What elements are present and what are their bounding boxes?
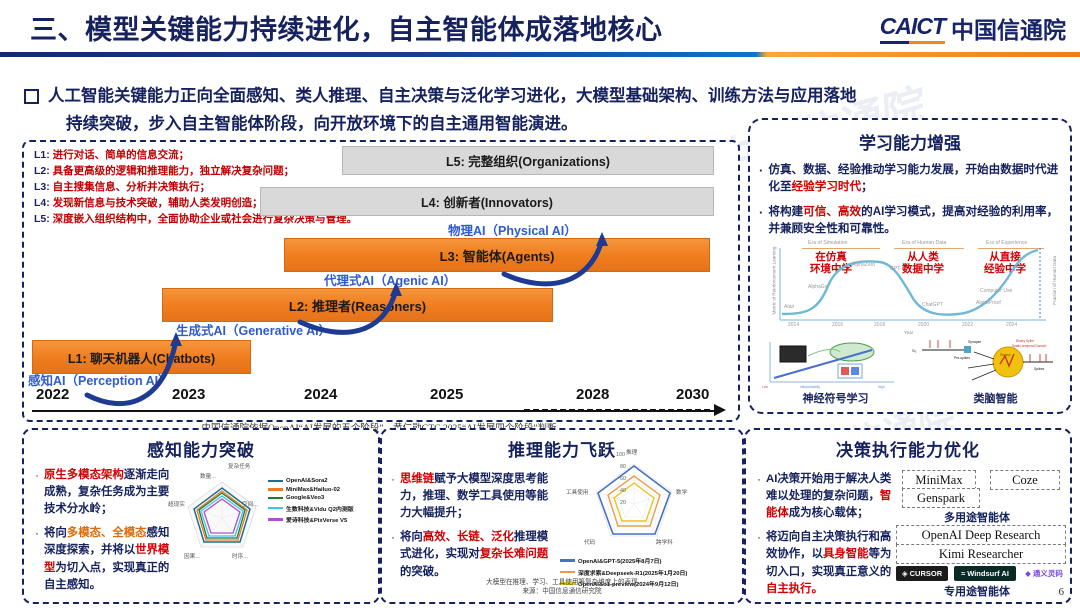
neuro-symbolic-figure: Low Interpretability High [760,338,900,390]
y-axis-label-left: Metric of Reinforcement Learning [771,247,776,315]
chip-windsurf[interactable]: ≈Windsurf AI [954,566,1016,581]
legend-item: 深度求索&Deepseek-R1(2025年1月20日) [560,568,687,577]
bullet-item: · 将向高效、长链、泛化推理模式进化，实现对复杂长难问题的突破。 [391,529,554,580]
bullet-dot-icon: · [759,162,763,196]
svg-text:Synapse: Synapse [968,340,981,344]
x-tick: 2016 [832,322,843,328]
svg-text:Soma: Soma [1000,352,1011,357]
radar-axis-label: 数量... [200,472,216,480]
radar-axis-label: 代码 [584,538,595,546]
bullet-dot-icon: · [35,525,39,593]
stage-bar-l2: L2: 推理者(Reasoners) [162,288,553,322]
caption-neuro-symbolic: 神经符号学习 [803,390,869,406]
x-tick: 2014 [788,322,799,328]
decision-bullets: · AI决策开始用于解决人类难以处理的复杂问题，智能体成为核心载体； · 将迈向… [750,464,902,598]
svg-text:Low: Low [762,385,769,389]
point-label: ChatGPT [922,302,943,308]
year-tick: 2022 [36,386,69,403]
learning-bullet: · 将构建可信、高效的AI学习模式，提高对经验的利用率，并兼顾安全性和可靠性。 [759,204,1059,238]
learning-figure-captions: 神经符号学习 类脑智能 [750,390,1070,406]
tool-kimi-researcher[interactable]: Kimi Researcher [896,544,1066,564]
radar-axis-label: 工具使用 [566,488,588,496]
legend-item: 生数科技&Vidu Q2内测版 [268,504,354,513]
special-agent-caption: 专用途智能体 [892,583,1062,599]
bullet-dot-icon: · [757,529,761,597]
radar-tick: 80 [620,464,626,470]
slide-header: 三、模型关键能力持续进化，自主智能体成落地核心 CAICT 中国信通院 [0,0,1080,56]
header-rule [0,52,1080,57]
decision-card: 决策执行能力优化 · AI决策开始用于解决人类难以处理的复杂问题，智能体成为核心… [744,428,1072,604]
timeline-axis-arrow-icon [714,404,726,416]
lead-line-2: 持续突破，步入自主智能体阶段，向开放环境下的自主通用智能演进。 [48,110,857,138]
chip-cursor[interactable]: ◈CURSOR [896,566,948,581]
radar-axis-label: 跨学科 [656,538,673,546]
stage-bar-l1: L1: 聊天机器人(Chatbots) [32,340,251,374]
learning-capability-card: 学习能力增强 · 仿真、数据、经验推动学习能力发展，开始由数据时代进化至经验学习… [748,118,1072,414]
radar-axis-label: 时序... [232,552,248,560]
x-tick: 2018 [874,322,885,328]
chip-tongyi-lingma[interactable]: ◆通义灵码 [1020,566,1068,581]
bullet-dot-icon: · [35,467,39,518]
point-label: Computer Use [980,288,1012,294]
point-label: AlphaZero [852,262,875,268]
page-title: 三、模型关键能力持续进化，自主智能体成落地核心 [30,8,663,47]
square-bullet-icon [24,89,39,104]
page-number: 6 [1059,586,1065,598]
legend-swatch [268,497,283,499]
caption-brain-like: 类脑智能 [974,390,1018,406]
tool-coze[interactable]: Coze [990,470,1060,490]
logo-name: 中国信通院 [951,11,1066,45]
legend-item: Google&Veo3 [268,495,354,501]
tool-minimax[interactable]: MiniMax [902,470,976,490]
perception-bullets: · 原生多模态架构逐渐走向成熟，复杂任务成为主要技术分水岭； · 将向多模态、全… [28,460,180,594]
level-legend-item: L1: 进行对话、简单的信息交流； [34,148,357,164]
svg-text:Spikes: Spikes [1034,367,1044,371]
legend-item: OpenAI&Sora2 [268,478,354,484]
spiking-neuron-figure: S₀ Pre-spikes Synapse Soma Spikes Binary… [908,332,1060,390]
tool-genspark[interactable]: Genspark [902,488,980,508]
year-tick: 2024 [304,386,337,403]
phase-label-generative: 生成式AI（Generative AI） [176,320,331,339]
radar-chart-perception: 复杂任务 空间... 时序... 因果... 超现实 数量... [174,456,270,568]
year-tick: 2023 [172,386,205,403]
svg-text:High: High [878,385,885,389]
radar-axis-label: 推理 [626,448,637,456]
legend-item: MiniMax&Hailuo-02 [268,487,354,493]
timeline-axis-dashed [524,409,710,412]
legend-swatch [560,571,575,573]
legend-swatch [268,480,283,482]
bullet-item: · 将迈向自主决策执行和高效协作，以具身智能等为切入口，实现真正意义的自主执行。 [757,529,896,597]
radar-legend-perception: OpenAI&Sora2 MiniMax&Hailuo-02 Google&Ve… [268,478,354,527]
y-axis-label-right: Fraction of Human Data [1052,256,1057,305]
bullet-item: · 原生多模态架构逐渐走向成熟，复杂任务成为主要技术分水岭； [35,467,174,518]
learning-bullet: · 仿真、数据、经验推动学习能力发展，开始由数据时代进化至经验学习时代； [759,162,1059,196]
bullet-dot-icon: · [391,471,395,522]
bullet-dot-icon: · [757,471,761,522]
stage-bar-l5: L5: 完整组织(Organizations) [342,146,714,175]
radar-tick: 20 [620,500,626,506]
legend-swatch [268,488,283,490]
x-tick: 2024 [1006,322,1017,328]
year-tick: 2025 [430,386,463,403]
x-tick: 2020 [918,322,929,328]
svg-text:Spatio-temporal Domain: Spatio-temporal Domain [1012,344,1047,348]
point-label: GPT-3 [890,266,904,272]
bullet-item: · 将向多模态、全模态感知深度探索，并将以世界模型为切入点，实现真正的自主感知。 [35,525,174,593]
slide-root: CAICT 中国信通院 CAICT 中国信通院 CAICT 中国信通院 CAIC… [0,0,1080,608]
legend-item: 爱诗科技&PixVerse V5 [268,515,354,524]
radar-tick: 60 [620,476,626,482]
year-tick: 2030 [676,386,709,403]
bullet-dot-icon: · [759,204,763,238]
radar-tick: 100 [616,452,625,458]
phase-label-physical: 物理AI（Physical AI） [448,220,577,239]
legend-swatch [268,507,283,509]
x-tick: 2022 [962,322,973,328]
radar-axis-label: 因果... [184,552,200,560]
svg-text:Binary Spike: Binary Spike [1016,339,1034,343]
svg-text:S₀: S₀ [912,348,917,353]
svg-text:Interpretability: Interpretability [800,385,820,389]
point-label: AlphaProof [976,300,1001,306]
legend-swatch [560,559,575,561]
phase-label-agentic: 代理式AI（Agenic AI） [324,270,456,289]
radar-tick: 40 [620,488,626,494]
stage-bar-l3: L3: 智能体(Agents) [284,238,710,272]
reasoning-card: 推理能力飞跃 · 思维链赋予大模型深度思考能力，推理、数学工具使用等能力大幅提升… [380,428,744,604]
cursor-logo-icon: ◈ [902,569,908,578]
point-label: Atari [784,304,794,310]
reasoning-chart-note: 大模型在推理、学习、工具使用等复杂维度上的表现 来源：中国信息通信研究院 [382,578,742,596]
bullet-item: · AI决策开始用于解决人类难以处理的复杂问题，智能体成为核心载体； [757,471,896,522]
year-tick: 2028 [576,386,609,403]
general-agent-caption: 多用途智能体 [892,509,1062,525]
learning-card-title: 学习能力增强 [750,129,1070,154]
legend-item: OpenAI&GPT-5(2025年8月7日) [560,556,687,565]
reasoning-bullets: · 思维链赋予大模型深度思考能力，推理、数学工具使用等能力大幅提升； · 将向高… [384,464,560,581]
legend-swatch [268,518,283,520]
level-legend-item: L2: 具备更高级的逻辑和推理能力，独立解决复杂问题； [34,164,357,180]
lead-line-1: 人工智能关键能力正向全面感知、类人推理、自主决策与泛化学习进化，大模型基础架构、… [48,87,857,105]
radar-chart-reasoning: 推理 数学 跨学科 代码 工具使用 100 80 60 40 20 [568,448,700,552]
radar-axis-label: 空间... [242,500,258,508]
logo-mark: CAICT [880,13,945,44]
windsurf-logo-icon: ≈ [961,569,965,578]
point-label: AlphaGo [808,284,827,290]
era-curve-chart: Era of Simulation Era of Human Data Era … [762,240,1058,340]
caict-logo: CAICT 中国信通院 [880,11,1066,45]
radar-axis-label: 数学 [676,488,687,496]
svg-text:Pre-spikes: Pre-spikes [954,356,970,360]
radar-axis-label: 超现实 [168,500,185,508]
stage-bar-l4: L4: 创新者(Innovators) [260,187,714,216]
bullet-item: · 思维链赋予大模型深度思考能力，推理、数学工具使用等能力大幅提升； [391,471,554,522]
bullet-dot-icon: · [391,529,395,580]
radar-axis-label: 复杂任务 [228,462,250,470]
decision-card-title: 决策执行能力优化 [746,436,1070,461]
tool-openai-deep-research[interactable]: OpenAI Deep Research [896,525,1066,545]
timeline-card: L1: 进行对话、简单的信息交流； L2: 具备更高级的逻辑和推理能力，独立解决… [22,140,740,422]
perception-card: 感知能力突破 · 原生多模态架构逐渐走向成熟，复杂任务成为主要技术分水岭； · … [22,428,380,604]
tongyi-logo-icon: ◆ [1025,569,1031,578]
